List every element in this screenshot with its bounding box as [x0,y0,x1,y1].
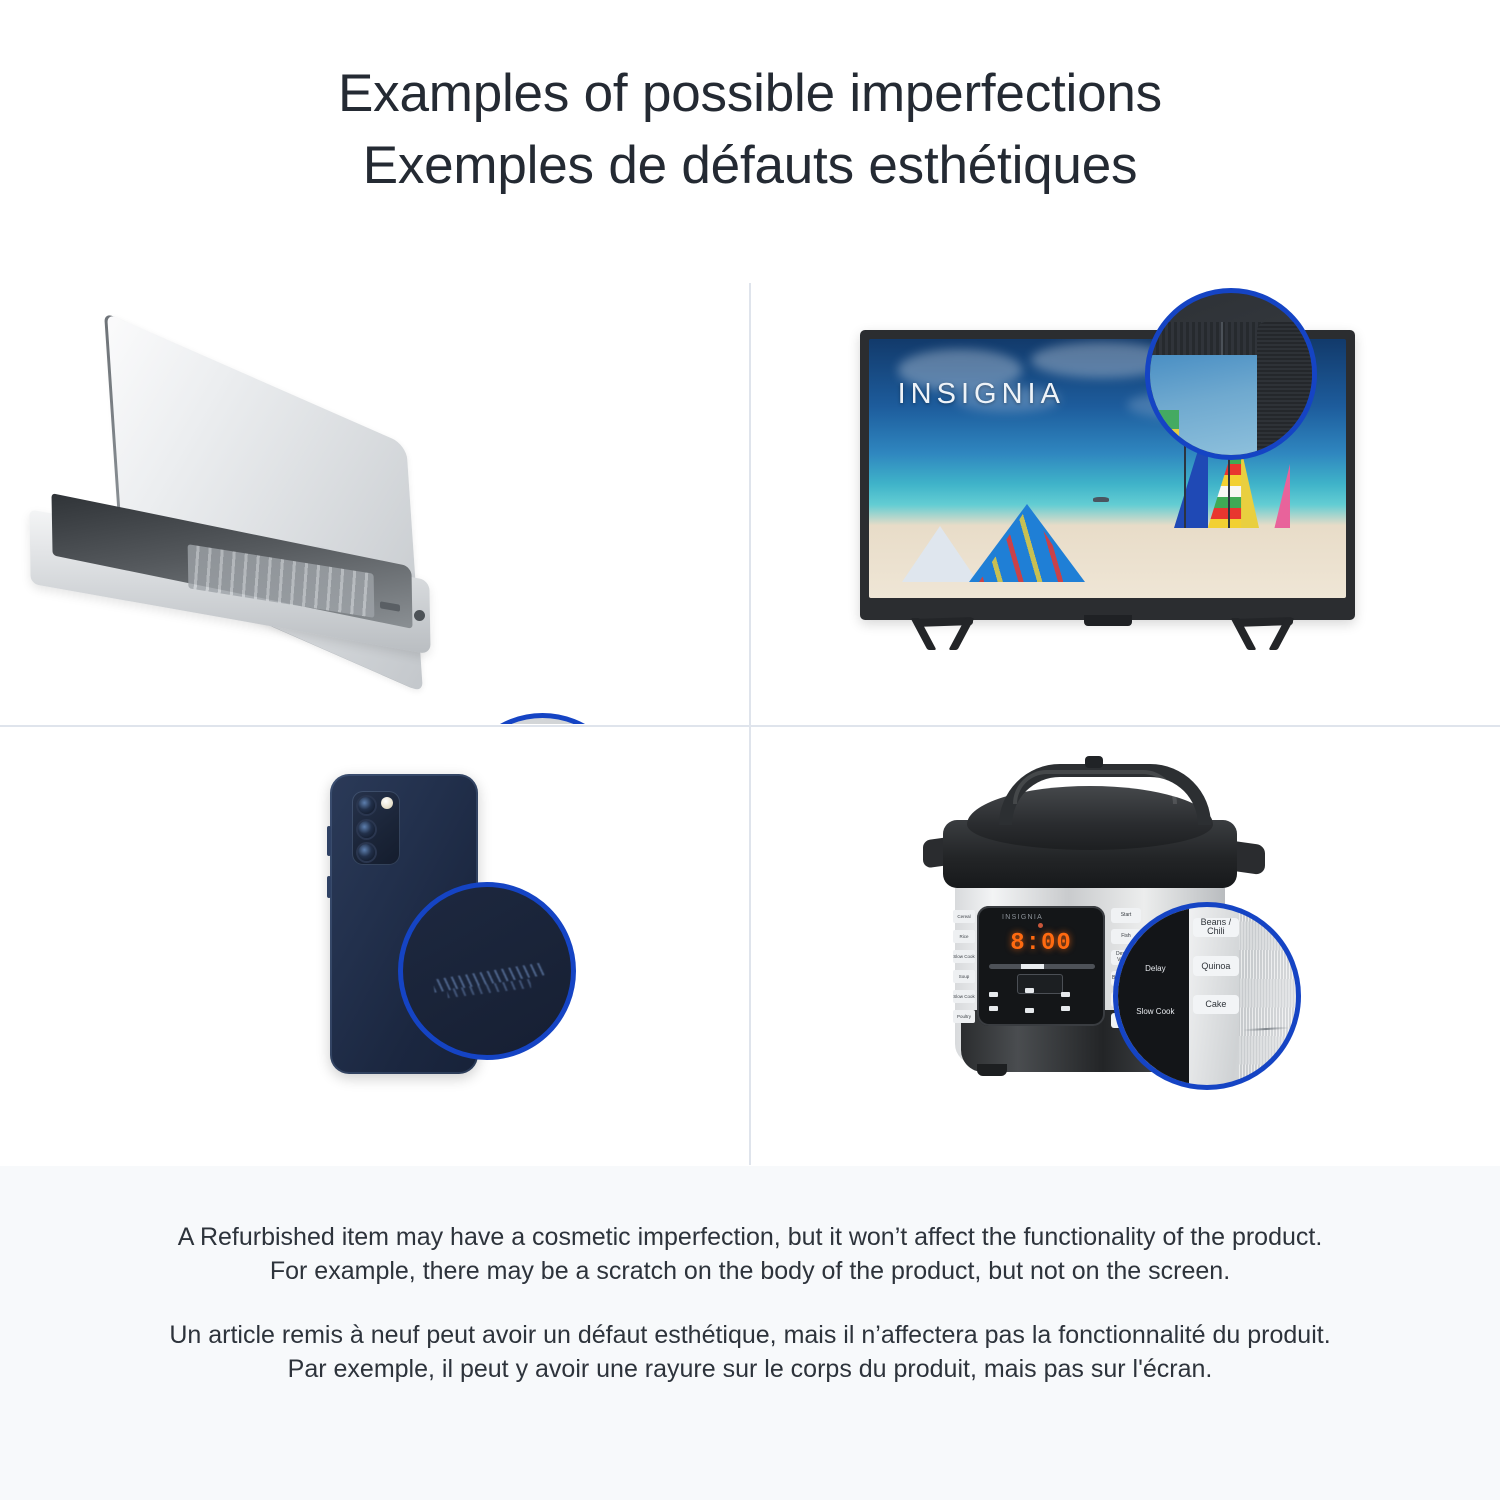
magnifier-phone-scratches [398,882,576,1060]
control-button[interactable] [1061,1006,1070,1011]
example-cell-laptop [0,283,745,724]
camera-lens-icon [358,821,375,838]
distant-boat-shape [1093,497,1109,502]
cooker-button-poultry[interactable]: Poultry [953,1010,975,1023]
infographic-page: Examples of possible imperfections Exemp… [0,0,1500,1500]
grid-divider-horizontal [0,725,1500,727]
magnified-sail-fragment [1153,410,1179,452]
tv-leg-bar [915,617,973,627]
magnifier-tv-corner [1145,288,1317,460]
control-button[interactable] [1025,988,1034,993]
magnified-control-panel [1118,907,1189,1085]
control-button-grid[interactable] [987,982,1097,1022]
bezel-seam [1221,322,1223,358]
cooker-button-cereal[interactable]: Cereal [953,910,975,923]
magnified-button-quinoa: Quinoa [1193,956,1239,975]
steam-valve-icon [1085,756,1103,768]
tv-screen-brand-text: INSIGNIA [898,378,1065,411]
magnified-stainless-surface [1239,907,1296,1085]
magnifier-cooker-scratch: Delay Slow Cook Beans / Chili Quinoa Cak… [1113,902,1301,1090]
cooker-button-slow-cook-2[interactable]: Slow Cook [953,990,975,1003]
pressure-level-slider[interactable] [989,964,1095,969]
pink-sail-shape [1274,462,1290,528]
control-button[interactable] [1025,1008,1034,1013]
camera-lens-icon [358,797,375,814]
magnified-button-stack: Beans / Chili Quinoa Cake [1193,918,1239,1032]
magnified-button-beans-chili: Beans / Chili [1193,918,1239,937]
status-indicator-dot [1038,923,1043,928]
examples-grid: INSIGNIA [0,283,1500,1165]
control-button[interactable] [1061,992,1070,997]
smartphone-illustration [0,734,745,1165]
page-footer: A Refurbished item may have a cosmetic i… [0,1166,1500,1500]
audio-jack-icon [414,610,425,621]
camera-flash-icon [381,797,393,809]
tv-leg-bar [1235,617,1293,627]
cooker-brand-text: INSIGNIA [1002,914,1043,921]
footer-paragraph-fr: Un article remis à neuf peut avoir un dé… [168,1318,1332,1386]
tv-logo-badge [1084,615,1132,626]
cooker-foot [977,1064,1007,1076]
cooker-button-soup[interactable]: Soup [953,970,975,983]
magnified-button-cake: Cake [1193,995,1239,1014]
tv-leg-left [905,618,981,650]
pressure-cooker-illustration: INSIGNIA 8:00 Cereal Rice Slow Cook [755,734,1500,1165]
page-header: Examples of possible imperfections Exemp… [0,0,1500,260]
footer-paragraph-en: A Refurbished item may have a cosmetic i… [168,1220,1332,1288]
left-button-column[interactable]: Cereal Rice Slow Cook Soup Slow Cook Pou… [953,910,975,1026]
tv-leg-right [1225,618,1301,650]
phone-volume-button [327,826,331,856]
control-button[interactable] [989,992,998,997]
television-illustration: INSIGNIA [755,283,1500,724]
handle-highlight [1013,770,1177,804]
control-button[interactable] [989,1006,998,1011]
phone-power-button [327,876,331,898]
grid-divider-vertical [749,283,751,1165]
example-cell-smartphone [0,734,745,1165]
magnifier-laptop-scratch [455,713,630,724]
magnified-corner-bezel [1257,322,1312,455]
page-title-fr: Exemples de défauts esthétiques [363,134,1138,198]
cooker-button-slow-cook[interactable]: Slow Cook [953,950,975,963]
magnified-label-slow-cook: Slow Cook [1129,1007,1182,1016]
camera-lens-icon [358,844,375,861]
laptop-illustration [0,283,745,724]
white-tent-shape [902,526,978,582]
example-cell-pressure-cooker: INSIGNIA 8:00 Cereal Rice Slow Cook [755,734,1500,1165]
magnified-label-delay: Delay [1129,964,1182,973]
page-title-en: Examples of possible imperfections [338,62,1162,126]
yellow-sail-shape [1241,448,1259,528]
cooker-display: 8:00 [1011,930,1071,956]
cooker-button-rice[interactable]: Rice [953,930,975,943]
example-cell-television: INSIGNIA [755,283,1500,724]
